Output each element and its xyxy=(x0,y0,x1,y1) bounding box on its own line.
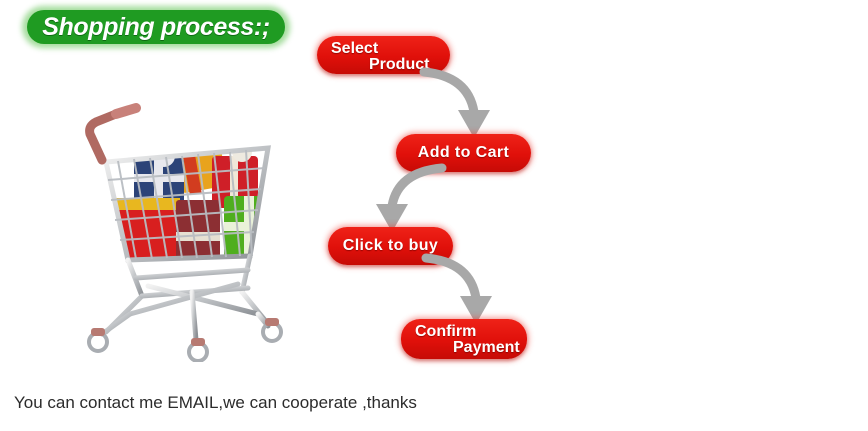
shopping-process-graphic: Shopping process:; xyxy=(0,0,868,431)
arrow-down-right-icon xyxy=(420,252,516,328)
shopping-cart-image xyxy=(72,100,298,362)
contact-caption: You can contact me EMAIL,we can cooperat… xyxy=(14,393,417,413)
flow-step-confirm-payment[interactable]: Confirm Payment xyxy=(401,319,527,359)
arrow-down-left-icon xyxy=(352,162,448,236)
page-title: Shopping process:; xyxy=(22,6,290,48)
step-label-line2: Payment xyxy=(453,339,520,357)
arrow-down-right-icon xyxy=(418,66,514,142)
title-banner: Shopping process:; xyxy=(22,6,290,48)
